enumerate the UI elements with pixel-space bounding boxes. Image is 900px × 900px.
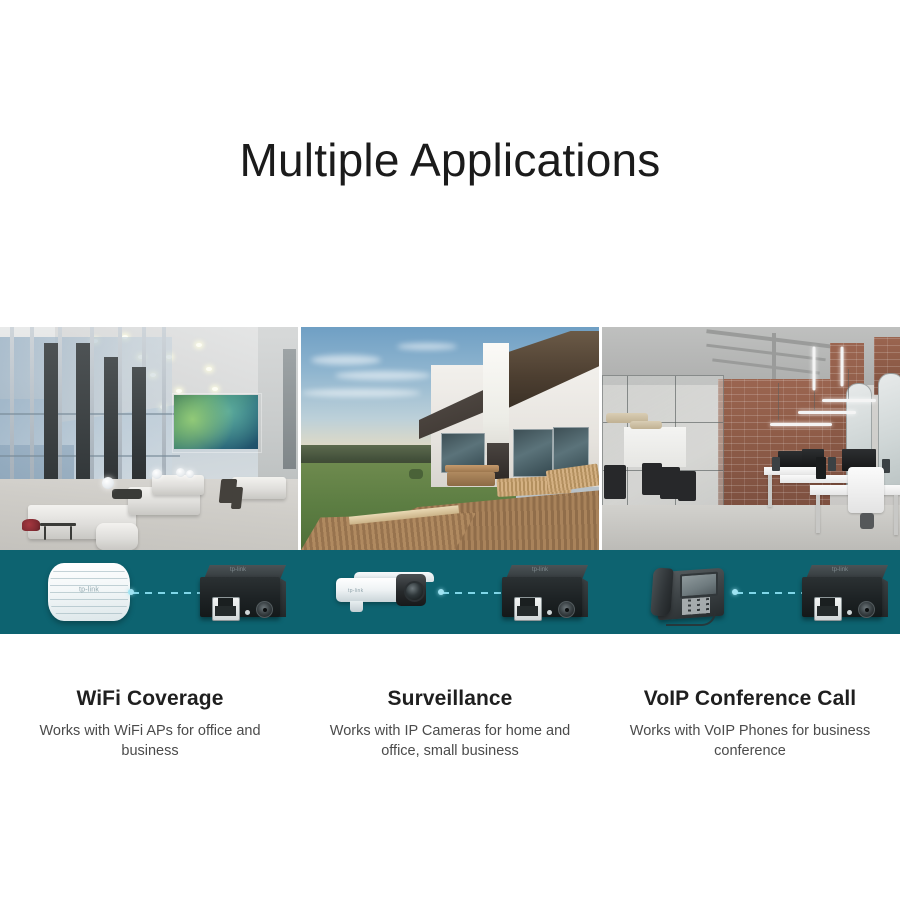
- poe-splitter: tp-link: [200, 565, 286, 619]
- wifi-access-point: tp-link: [48, 563, 130, 621]
- downlight-icon: [206, 367, 212, 371]
- linear-pendant-light: [813, 347, 816, 391]
- link-endpoint-dot: [438, 589, 444, 595]
- ip-camera: tp-link: [336, 568, 440, 612]
- camera-mount-bracket: [350, 601, 363, 612]
- phone-display: [680, 572, 718, 599]
- outdoor-bench: [447, 472, 495, 486]
- poe-front-face: [200, 577, 280, 617]
- armchair: [96, 523, 138, 550]
- caption-title: WiFi Coverage: [24, 686, 276, 712]
- poe-splitter: tp-link: [502, 565, 588, 619]
- voip-phone: [648, 560, 734, 624]
- caption-voip-conference-call: VoIP Conference Call Works with VoIP Pho…: [600, 686, 900, 761]
- diagram-column-surveillance: tp-link tp-link: [300, 550, 600, 634]
- linear-pendant-light: [841, 347, 844, 387]
- meeting-chair: [660, 467, 680, 499]
- device-diagram-band: tp-link tp-link tp-link: [0, 550, 900, 634]
- flower-arrangement: [22, 519, 40, 531]
- status-led-icon: [547, 610, 552, 615]
- desktop-tower: [816, 457, 826, 479]
- photo-strip: [0, 327, 900, 550]
- cloud: [301, 389, 421, 397]
- status-led-icon: [847, 610, 852, 615]
- phone-cord: [666, 612, 716, 626]
- camera-brand-label: tp-link: [348, 588, 363, 594]
- linear-pendant-light: [822, 399, 876, 402]
- caption-surveillance: Surveillance Works with IP Cameras for h…: [300, 686, 600, 761]
- link-endpoint-dot: [128, 589, 134, 595]
- linear-pendant-light: [770, 423, 832, 426]
- floor-lamp-icon: [176, 468, 185, 477]
- table-leg: [44, 526, 46, 540]
- ethernet-link: [132, 592, 202, 594]
- caption-description: Works with IP Cameras for home and offic…: [324, 721, 576, 761]
- linear-pendant-light: [798, 411, 856, 414]
- poe-front-face: [502, 577, 582, 617]
- window-transom: [0, 455, 180, 457]
- poe-brand-label: tp-link: [532, 567, 548, 573]
- camera-lens: [404, 581, 425, 602]
- diagram-column-wifi: tp-link tp-link: [0, 550, 300, 634]
- desk-accessory: [772, 457, 780, 471]
- downlight-icon: [196, 343, 202, 347]
- diagram-column-voip: tp-link: [600, 550, 900, 634]
- page-title: Multiple Applications: [0, 131, 900, 189]
- phone-handset: [650, 567, 673, 616]
- rj45-port-icon: [514, 597, 542, 621]
- chair-base: [860, 513, 874, 529]
- desk-leg: [816, 495, 820, 533]
- mural-frame: [172, 393, 262, 453]
- photo-house-wooden-deck: [301, 327, 599, 550]
- chimney: [483, 343, 509, 455]
- poe-brand-label: tp-link: [832, 567, 848, 573]
- desk-accessory: [828, 457, 836, 471]
- power-jack-icon: [558, 601, 575, 618]
- rj45-port-icon: [814, 597, 842, 621]
- downlight-icon: [212, 387, 218, 391]
- power-jack-icon: [858, 601, 875, 618]
- power-jack-icon: [256, 601, 273, 618]
- table-cluster: [112, 489, 142, 499]
- caption-title: Surveillance: [324, 686, 576, 712]
- outdoor-table: [445, 465, 499, 472]
- desk-leg: [894, 495, 898, 535]
- application-showcase-graphic: Multiple Applications: [0, 0, 900, 900]
- caption-title: VoIP Conference Call: [624, 686, 876, 712]
- pendant-lamp: [630, 421, 662, 429]
- cloud: [311, 355, 381, 365]
- potted-plant: [409, 469, 423, 479]
- cloud: [397, 343, 457, 350]
- caption-description: Works with WiFi APs for office and busin…: [24, 721, 276, 761]
- poe-front-face: [802, 577, 882, 617]
- caption-row: WiFi Coverage Works with WiFi APs for of…: [0, 686, 900, 761]
- floor-lamp-icon: [186, 470, 194, 478]
- meeting-chair: [678, 471, 696, 501]
- ethernet-link: [442, 592, 504, 594]
- desk-leg: [768, 475, 772, 507]
- lamp-suspension: [848, 369, 849, 399]
- link-endpoint-dot: [732, 589, 738, 595]
- rj45-port-icon: [212, 597, 240, 621]
- meeting-chair: [642, 463, 662, 495]
- photo-modern-lounge-interior: [0, 327, 298, 550]
- status-led-icon: [245, 610, 250, 615]
- floor-lamp-icon: [152, 469, 162, 479]
- whiteboard: [624, 427, 686, 467]
- photo-loft-office-interior: [602, 327, 900, 550]
- ethernet-link: [736, 592, 804, 594]
- lamp-suspension: [778, 383, 779, 421]
- poe-brand-label: tp-link: [230, 567, 246, 573]
- window-frame-column: [132, 367, 146, 487]
- monitor: [778, 451, 804, 467]
- table-leg: [70, 526, 72, 540]
- window-transom: [0, 413, 180, 415]
- ap-brand-label: tp-link: [79, 587, 99, 594]
- poe-splitter: tp-link: [802, 565, 888, 619]
- wall-panel: [283, 349, 296, 469]
- caption-wifi-coverage: WiFi Coverage Works with WiFi APs for of…: [0, 686, 300, 761]
- cloud: [335, 371, 431, 380]
- floor-lamp-icon: [102, 477, 114, 489]
- meeting-chair: [604, 465, 626, 499]
- caption-description: Works with VoIP Phones for business conf…: [624, 721, 876, 761]
- office-chair: [848, 467, 884, 513]
